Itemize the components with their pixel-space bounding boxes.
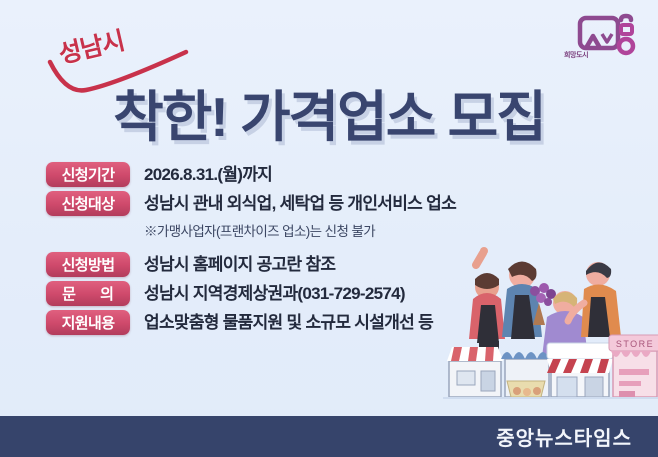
- poster-canvas: 희망도시 성남시 착한! 가격업소 모집 신청기간 2026.8.31.(월)까…: [0, 0, 658, 457]
- footer-brand: 중앙뉴스타임스: [496, 422, 632, 451]
- page-title: 착한! 가격업소 모집: [0, 72, 658, 152]
- info-row-application-target: 신청대상 성남시 관내 외식업, 세탁업 등 개인서비스 업소 ※가맹사업자(프…: [46, 191, 516, 240]
- value-application-period: 2026.8.31.(월)까지: [144, 162, 272, 187]
- illustration-small-business: STORE: [443, 241, 658, 416]
- badge-application-target: 신청대상: [46, 191, 130, 216]
- value-support-content: 업소맞춤형 물품지원 및 소규모 시설개선 등: [144, 310, 433, 335]
- shop-sign-text: STORE: [616, 339, 654, 349]
- info-row-application-period: 신청기간 2026.8.31.(월)까지: [46, 162, 516, 187]
- storefront-blue-icon: [501, 352, 549, 397]
- badge-inquiry: 문 의: [46, 281, 130, 306]
- badge-application-period: 신청기간: [46, 162, 130, 187]
- footer-bar: 중앙뉴스타임스: [0, 416, 658, 457]
- value-application-method: 성남시 홈페이지 공고란 참조: [144, 252, 335, 277]
- storefront-pink-icon: STORE: [609, 335, 658, 397]
- value-inquiry: 성남시 지역경제상권과(031-729-2574): [144, 281, 405, 306]
- badge-support-content: 지원내용: [46, 310, 130, 335]
- note-franchise-exclusion: ※가맹사업자(프랜차이즈 업소)는 신청 불가: [144, 220, 516, 240]
- storefront-red-icon: [447, 347, 503, 397]
- logo-caption: 희망도시: [564, 50, 588, 60]
- storefront-main-icon: [547, 343, 613, 397]
- person-raised-arm-icon: [469, 247, 505, 363]
- badge-application-method: 신청방법: [46, 252, 130, 277]
- value-application-target: 성남시 관내 외식업, 세탁업 등 개인서비스 업소: [144, 191, 456, 216]
- seongnam-city-logo: 희망도시: [566, 8, 644, 64]
- illustration-svg: STORE: [443, 241, 658, 416]
